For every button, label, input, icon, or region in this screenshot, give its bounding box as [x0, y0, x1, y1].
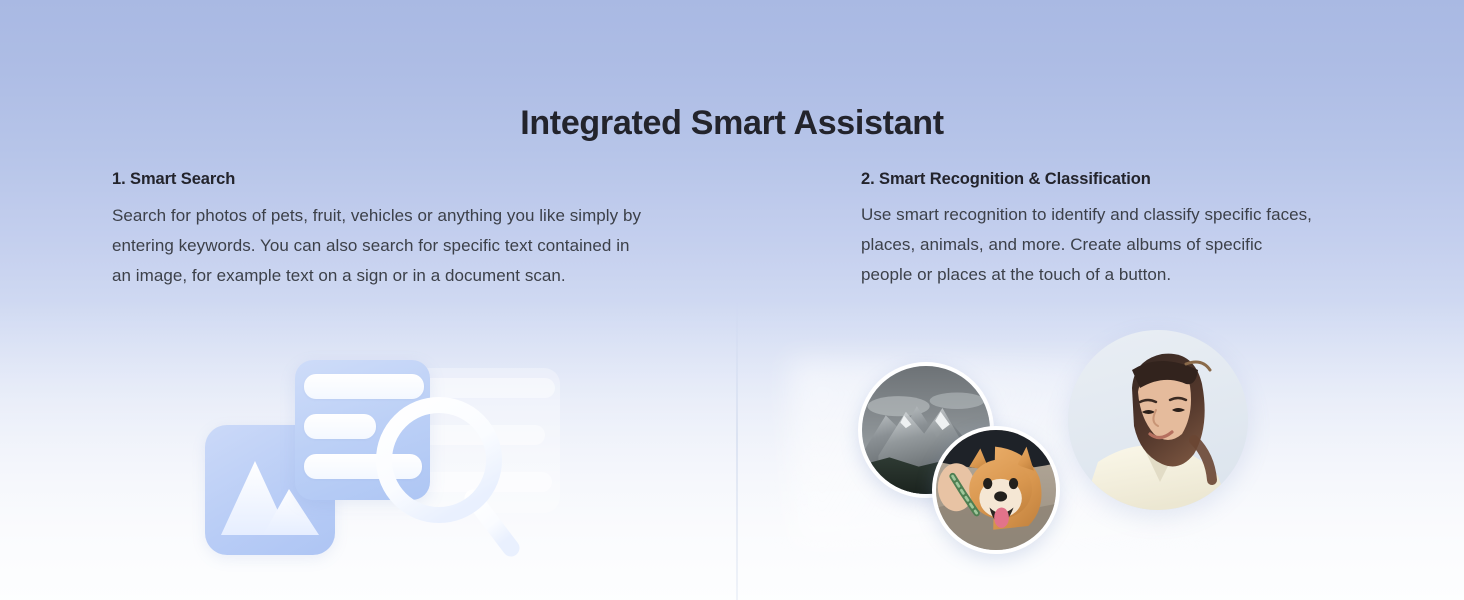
shiba-inu-dog-photo	[936, 430, 1056, 550]
circular-photo-person	[1068, 330, 1248, 510]
section-body-smart-search: Search for photos of pets, fruit, vehicl…	[112, 201, 642, 291]
column-smart-recognition: 2. Smart Recognition & Classification Us…	[861, 170, 1313, 290]
list-bar-2	[304, 414, 376, 439]
page-title: Integrated Smart Assistant	[0, 104, 1464, 143]
woman-portrait-photo	[1068, 330, 1248, 510]
feature-banner: Integrated Smart Assistant 1. Smart Sear…	[0, 0, 1464, 600]
column-divider	[736, 300, 738, 600]
column-smart-search: 1. Smart Search Search for photos of pet…	[112, 170, 642, 291]
section-heading-smart-recognition: 2. Smart Recognition & Classification	[861, 170, 1313, 189]
section-body-smart-recognition: Use smart recognition to identify and cl…	[861, 200, 1313, 290]
circular-photo-dog	[932, 426, 1060, 554]
search-icon	[370, 390, 530, 565]
section-heading-smart-search: 1. Smart Search	[112, 170, 642, 189]
smart-recognition-illustration	[780, 340, 1280, 600]
smart-search-illustration	[180, 350, 580, 600]
